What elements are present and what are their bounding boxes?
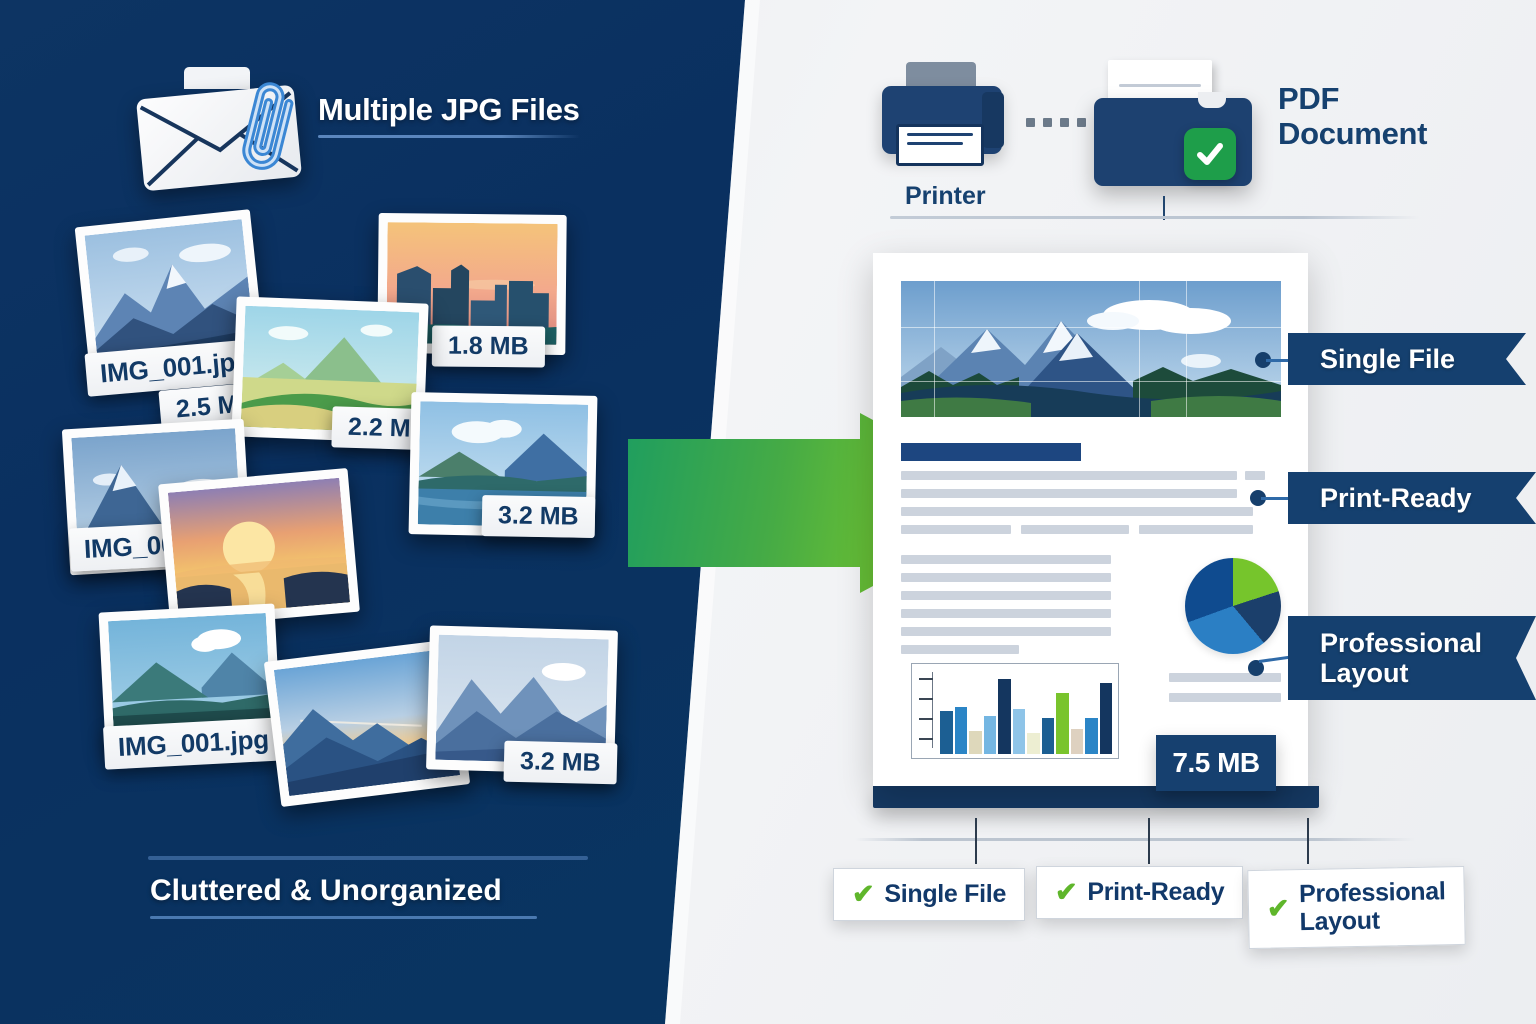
photo-size-tag: 3.2 MB [504, 741, 618, 785]
document-text-line [901, 507, 1253, 516]
callout-line1: Professional [1320, 628, 1482, 658]
document-text-line [901, 573, 1111, 582]
document-text-line [901, 471, 1237, 480]
pdf-folder-check-icon [1092, 48, 1260, 188]
document-text-line [901, 525, 1011, 534]
pdf-document-page[interactable] [873, 253, 1308, 786]
bottom-tick [975, 818, 977, 864]
bottom-tick [1307, 818, 1309, 864]
feature-badge-label-line1: Professional [1299, 878, 1446, 908]
document-text-line [901, 489, 1237, 498]
left-footer-block: Cluttered & Unorganized [148, 856, 588, 919]
bar-chart-bar [940, 711, 953, 754]
document-text-line [901, 627, 1111, 636]
bottom-tick [1148, 818, 1150, 864]
pdf-label-line1: PDF [1278, 82, 1427, 117]
bar-chart-bar [1071, 729, 1084, 754]
envelope-flap-back-icon [184, 67, 250, 89]
envelope-paperclip-icon [132, 78, 302, 193]
document-text-line [1139, 525, 1253, 534]
bottom-rule [855, 838, 1415, 841]
bar-chart-tick [919, 718, 933, 720]
dotted-connector-icon [1026, 118, 1086, 127]
feature-badge-label-line2: Layout [1299, 906, 1446, 936]
left-title-block: Multiple JPG Files [318, 92, 580, 138]
pdf-label: PDF Document [1278, 82, 1427, 151]
photo-thumbnail [168, 478, 350, 618]
document-heading-bar [901, 443, 1081, 461]
document-text-line [901, 591, 1111, 600]
left-footer-rule-bottom [150, 916, 537, 919]
feature-badge-single-file[interactable]: ✔ Single File [833, 868, 1025, 921]
photo-size-tag: 3.2 MB [482, 495, 595, 538]
feature-badge-label: Single File [884, 880, 1006, 909]
document-text-line [1021, 525, 1129, 534]
left-title: Multiple JPG Files [318, 92, 580, 128]
bar-chart-bar [998, 679, 1011, 754]
bar-chart-bar [969, 731, 982, 754]
document-text-line [1169, 673, 1281, 682]
printer-top-tray [906, 62, 976, 88]
bar-chart-bar [984, 716, 997, 754]
callout-ribbon-print-ready[interactable]: Print-Ready [1288, 472, 1536, 524]
bar-chart-bar [1085, 718, 1098, 754]
check-icon: ✔ [852, 881, 874, 908]
bar-chart-axis [932, 672, 933, 748]
bar-chart-bar [1042, 718, 1055, 754]
bar-chart-bar [1100, 683, 1113, 754]
pdf-label-line2: Document [1278, 117, 1427, 152]
document-text-line [901, 555, 1111, 564]
feature-badge-label: Print-Ready [1087, 878, 1224, 907]
printer-side [982, 92, 1004, 148]
feature-badge-professional-layout[interactable]: ✔ Professional Layout [1247, 866, 1465, 949]
document-size-badge: 7.5 MB [1156, 735, 1276, 791]
callout-ribbon-professional-layout[interactable]: Professional Layout [1288, 616, 1536, 700]
infographic-canvas: Multiple JPG Files IMG_001.jpg 2.5 MB [0, 0, 1536, 1024]
document-bar-chart [911, 663, 1119, 759]
document-text-line [1169, 693, 1281, 702]
left-footer-rule-top [148, 856, 588, 860]
left-footer-label: Cluttered & Unorganized [148, 860, 588, 916]
callout-line2: Layout [1320, 658, 1482, 688]
right-header-rule [890, 216, 1420, 219]
pdf-folder-notch [1198, 92, 1226, 108]
bar-chart-tick [919, 738, 933, 740]
printer-label: Printer [905, 182, 986, 211]
bar-chart-bar [1027, 733, 1040, 754]
check-icon: ✔ [1055, 879, 1077, 906]
photo-size-tag: 1.8 MB [432, 326, 545, 368]
document-hero-image [901, 281, 1281, 417]
document-pie-chart [1185, 558, 1281, 654]
callout-ribbon-single-file[interactable]: Single File [1288, 333, 1526, 385]
bar-chart-bars [940, 672, 1112, 754]
left-title-underline [318, 135, 580, 138]
check-icon: ✔ [1267, 895, 1290, 922]
printer-output-paper [896, 124, 984, 166]
bar-chart-bar [1056, 693, 1069, 754]
hero-grid-overlay [901, 281, 1281, 417]
document-text-line [1245, 471, 1265, 480]
bar-chart-bar [955, 707, 968, 754]
bar-chart-tick [919, 698, 933, 700]
feature-badge-print-ready[interactable]: ✔ Print-Ready [1036, 866, 1243, 919]
check-badge-icon [1184, 128, 1236, 180]
document-text-line [901, 645, 1019, 654]
bar-chart-tick [919, 678, 933, 680]
document-text-line [901, 609, 1111, 618]
bar-chart-bar [1013, 709, 1026, 754]
printer-icon [878, 62, 1006, 182]
